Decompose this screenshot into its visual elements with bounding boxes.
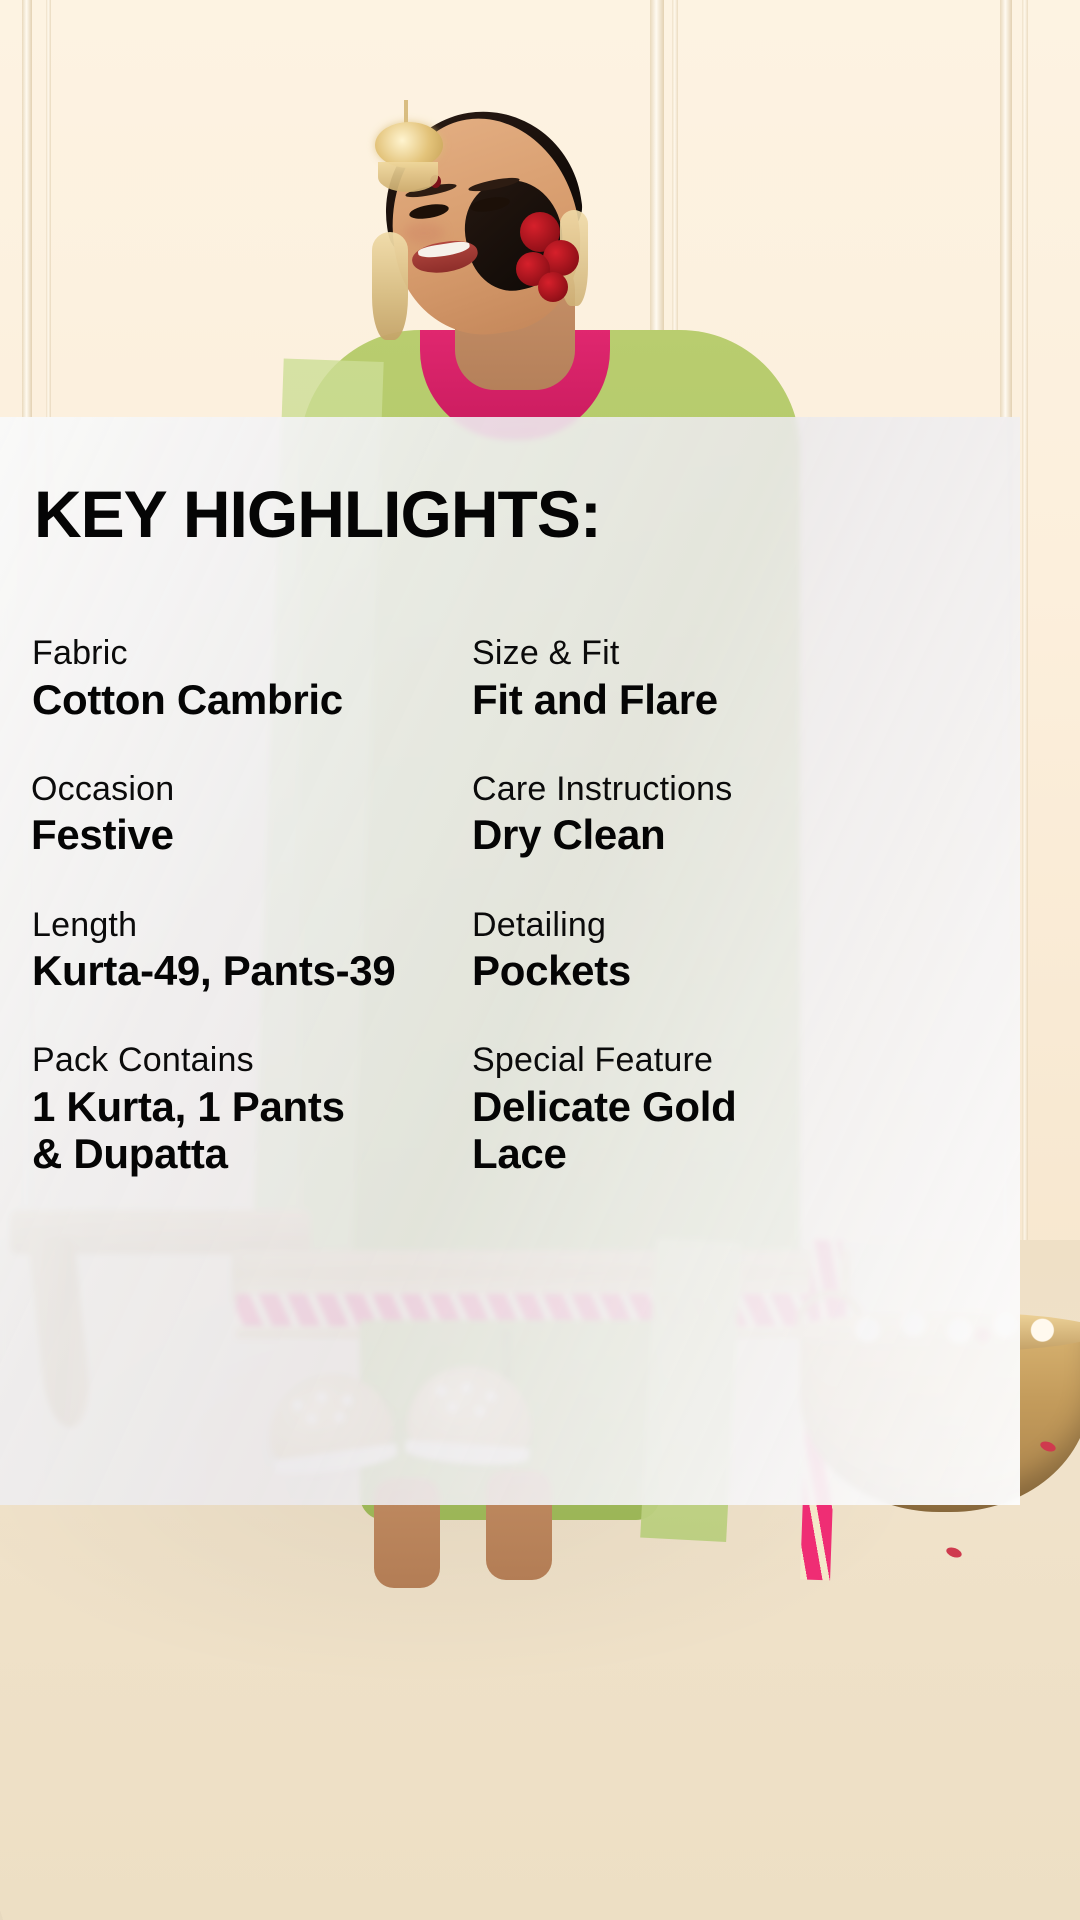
highlight-value: Cotton Cambric — [32, 676, 440, 723]
model-cheek — [404, 222, 444, 244]
highlight-value: 1 Kurta, 1 Pants & Dupatta — [32, 1083, 440, 1177]
highlight-value: Fit and Flare — [472, 676, 1000, 723]
highlight-label: Care Instructions — [472, 771, 1000, 808]
highlight-value: Kurta-49, Pants-39 — [32, 947, 440, 994]
hair-flower-icon — [538, 272, 568, 302]
highlight-cell-length: Length Kurta-49, Pants-39 — [0, 907, 440, 995]
highlight-cell-special-feature: Special Feature Delicate Gold Lace — [440, 1042, 1000, 1177]
highlight-value: Dry Clean — [472, 811, 1000, 858]
highlight-label: Size & Fit — [472, 635, 1000, 672]
highlight-value: Delicate Gold Lace — [472, 1083, 1000, 1177]
highlight-row: Length Kurta-49, Pants-39 Detailing Pock… — [0, 907, 1020, 995]
highlight-label: Detailing — [472, 907, 1000, 944]
highlight-cell-detailing: Detailing Pockets — [440, 907, 1000, 995]
highlight-label: Pack Contains — [32, 1042, 440, 1079]
highlight-label: Fabric — [32, 635, 440, 672]
highlight-cell-size-fit: Size & Fit Fit and Flare — [440, 635, 1000, 723]
page-title: KEY HIGHLIGHTS: — [34, 476, 601, 552]
highlight-row: Occasion Festive Care Instructions Dry C… — [0, 771, 1020, 859]
highlight-cell-care-instructions: Care Instructions Dry Clean — [440, 771, 1000, 859]
highlight-cell-fabric: Fabric Cotton Cambric — [0, 635, 440, 723]
highlights-grid: Fabric Cotton Cambric Size & Fit Fit and… — [0, 635, 1020, 1177]
highlight-value: Pockets — [472, 947, 1000, 994]
highlight-label: Length — [32, 907, 440, 944]
maang-tikka-drop — [378, 162, 438, 192]
highlight-cell-pack-contains: Pack Contains 1 Kurta, 1 Pants & Dupatta — [0, 1042, 440, 1177]
highlight-row: Pack Contains 1 Kurta, 1 Pants & Dupatta… — [0, 1042, 1020, 1177]
highlight-row: Fabric Cotton Cambric Size & Fit Fit and… — [0, 635, 1020, 723]
highlight-value: Festive — [31, 811, 440, 858]
earring-icon — [372, 232, 408, 340]
highlight-label: Special Feature — [472, 1042, 1000, 1079]
highlight-label: Occasion — [31, 771, 440, 808]
highlight-cell-occasion: Occasion Festive — [0, 771, 440, 859]
